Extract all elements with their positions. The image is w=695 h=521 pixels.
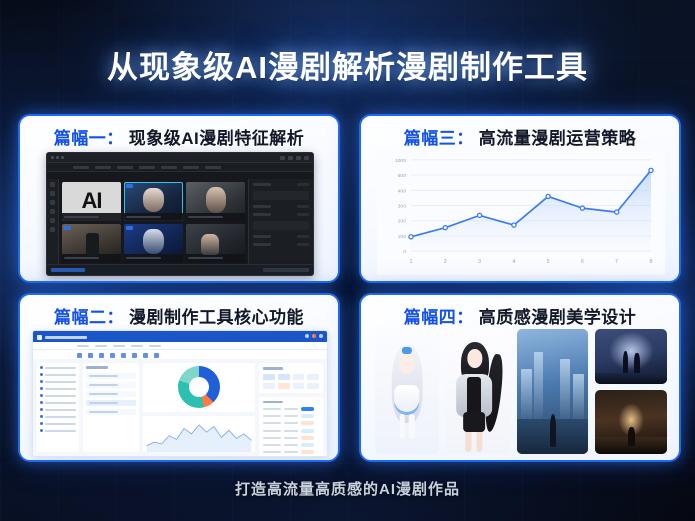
card-section-four[interactable]: 篇幅四： 高质感漫剧美学设计 xyxy=(359,293,681,462)
thumbnail-ai-label: AI xyxy=(82,190,102,212)
footer-tagline: 打造高流量高质感的AI漫剧作品 xyxy=(0,478,695,499)
sidebar-item[interactable] xyxy=(40,401,76,404)
media-thumbnail-grid: AI xyxy=(59,179,248,265)
line-chart-svg: 01002003004006001000 12345678 xyxy=(377,150,665,275)
page-title: 从现象级AI漫剧解析漫剧制作工具 xyxy=(0,42,695,87)
gallery-image-white-haired-chibi-character[interactable] xyxy=(375,329,439,454)
donut-chart xyxy=(178,366,220,408)
hair-bow-icon xyxy=(402,347,412,355)
property-row xyxy=(253,243,309,246)
thumbnail-caption xyxy=(186,254,245,262)
silhouette-figure xyxy=(628,427,634,446)
trend-chart-card xyxy=(143,416,255,452)
thumbnail-caption xyxy=(186,213,245,221)
shortcut-item[interactable] xyxy=(278,374,290,380)
light-glow xyxy=(609,332,653,371)
dashboard-body xyxy=(33,359,327,456)
svg-text:5: 5 xyxy=(547,259,550,265)
thumbnail-caption xyxy=(62,213,121,221)
shorts-shape xyxy=(463,412,485,432)
sidebar-item[interactable] xyxy=(40,429,76,432)
table-row xyxy=(263,443,319,447)
art-gallery xyxy=(375,329,667,454)
shortcut-item[interactable] xyxy=(263,374,275,380)
gallery-right-column xyxy=(595,329,667,454)
card-one-index: 篇幅一： xyxy=(54,124,124,149)
shortcut-item[interactable] xyxy=(278,383,290,389)
window-controls-icon xyxy=(280,156,309,160)
card-three-body: 01002003004006001000 12345678 xyxy=(361,150,679,277)
chart-data-point xyxy=(546,194,550,198)
sidebar-item[interactable] xyxy=(40,415,76,418)
building-shape xyxy=(560,359,571,422)
thumbnail-caption xyxy=(124,254,183,262)
shortcut-card-title xyxy=(263,367,283,370)
trend-chart-svg xyxy=(143,416,255,452)
shortcut-grid xyxy=(263,374,319,389)
inner-top-shape xyxy=(467,377,481,417)
chart-data-point xyxy=(478,213,482,217)
svg-text:8: 8 xyxy=(649,259,652,265)
editor-left-rail xyxy=(47,179,59,265)
list-panel-title xyxy=(86,366,108,369)
chart-data-point xyxy=(512,223,516,227)
shortcut-card xyxy=(259,363,323,393)
gallery-image-corridor-silhouette-scene[interactable] xyxy=(595,390,667,454)
chart-data-point xyxy=(649,168,653,172)
card-four-body xyxy=(361,329,679,456)
chart-data-point xyxy=(580,206,584,210)
card-four-title: 高质感漫剧美学设计 xyxy=(479,303,637,328)
gallery-image-blue-city-street-scene[interactable] xyxy=(517,329,589,454)
dashboard-screenshot xyxy=(32,330,328,457)
card-four-index: 篇幅四： xyxy=(404,303,474,328)
thumbnail-street[interactable] xyxy=(62,224,121,263)
editor-tabbar xyxy=(47,163,313,172)
dashboard-main-column xyxy=(143,363,255,452)
table-row xyxy=(263,421,319,425)
editor-statusbar xyxy=(47,264,313,275)
svg-text:100: 100 xyxy=(398,234,407,240)
thumbnail-caption xyxy=(62,254,121,262)
sidebar-item[interactable] xyxy=(40,380,76,383)
card-three-index: 篇幅三： xyxy=(404,124,474,149)
card-one-title: 现象级AI漫剧特征解析 xyxy=(129,124,305,149)
silhouette-figure xyxy=(550,414,556,447)
card-one-header: 篇幅一： 现象级AI漫剧特征解析 xyxy=(20,123,338,149)
list-item-active[interactable] xyxy=(86,400,136,406)
svg-text:200: 200 xyxy=(398,219,407,225)
shortcut-item[interactable] xyxy=(307,374,319,380)
shortcut-item[interactable] xyxy=(263,383,275,389)
card-one-body: AI xyxy=(20,150,338,277)
legs-shape xyxy=(399,414,416,439)
silhouette-figure xyxy=(623,351,629,374)
sidebar-item[interactable] xyxy=(40,408,76,411)
card-section-three[interactable]: 篇幅三： 高流量漫剧运营策略 010020030040060 xyxy=(359,114,681,283)
card-three-header: 篇幅三： 高流量漫剧运营策略 xyxy=(361,123,679,149)
dashboard-header xyxy=(33,331,327,342)
dashboard-user-area xyxy=(305,334,323,338)
list-item[interactable] xyxy=(86,391,136,397)
legs-shape xyxy=(464,429,483,452)
sidebar-item[interactable] xyxy=(40,394,76,397)
card-two-body xyxy=(20,329,338,456)
dashboard-list-panel xyxy=(83,363,139,452)
property-row xyxy=(253,183,309,186)
donut-chart-card xyxy=(143,363,255,412)
editor-titlebar xyxy=(47,153,313,163)
table-row xyxy=(263,450,319,454)
table-row xyxy=(263,407,319,411)
sidebar-item[interactable] xyxy=(40,366,76,369)
chart-data-point xyxy=(443,226,447,230)
table-row xyxy=(263,429,319,433)
sidebar-item[interactable] xyxy=(40,387,76,390)
property-row xyxy=(253,205,309,208)
building-shape xyxy=(573,374,584,422)
shortcut-item[interactable] xyxy=(293,374,305,380)
face-shape xyxy=(399,353,416,374)
dress-shape xyxy=(394,385,420,415)
sidebar-item[interactable] xyxy=(40,422,76,425)
slide-canvas: 从现象级AI漫剧解析漫剧制作工具 篇幅一： 现象级AI漫剧特征解析 xyxy=(0,0,695,521)
thumbnail-badge xyxy=(64,226,71,230)
svg-text:1000: 1000 xyxy=(395,158,406,164)
list-item[interactable] xyxy=(86,382,136,388)
card-two-title: 漫剧制作工具核心功能 xyxy=(129,303,304,328)
card-grid: 篇幅一： 现象级AI漫剧特征解析 xyxy=(18,114,677,458)
svg-text:2: 2 xyxy=(444,259,447,265)
thumbnail-neon-character[interactable] xyxy=(124,224,183,263)
video-editor-screenshot: AI xyxy=(46,152,314,276)
property-row xyxy=(253,235,309,238)
card-three-title: 高流量漫剧运营策略 xyxy=(479,124,637,149)
chart-data-point xyxy=(615,210,619,214)
card-two-index: 篇幅二： xyxy=(54,303,124,328)
svg-text:1: 1 xyxy=(409,259,412,265)
face-shape xyxy=(467,349,482,368)
shortcut-item[interactable] xyxy=(293,383,305,389)
building-shape xyxy=(534,352,543,422)
records-table-card xyxy=(259,397,323,458)
table-row xyxy=(263,436,319,440)
card-four-header: 篇幅四： 高质感漫剧美学设计 xyxy=(361,302,679,328)
gallery-image-black-ponytail-character[interactable] xyxy=(446,329,510,454)
thumbnail-car-scene[interactable] xyxy=(186,224,245,263)
card-section-two[interactable]: 篇幅二： 漫剧制作工具核心功能 xyxy=(18,293,340,462)
card-section-one[interactable]: 篇幅一： 现象级AI漫剧特征解析 xyxy=(18,114,340,283)
editor-properties-panel xyxy=(248,179,313,265)
property-block xyxy=(253,191,309,200)
svg-text:4: 4 xyxy=(512,259,515,265)
sidebar-item[interactable] xyxy=(40,373,76,376)
thumbnail-ai[interactable]: AI xyxy=(62,182,121,221)
editor-main: AI xyxy=(47,179,313,265)
property-block xyxy=(253,221,309,230)
thumbnail-portrait[interactable] xyxy=(186,182,245,221)
gallery-image-two-silhouettes-bridge-scene[interactable] xyxy=(595,329,667,384)
thumbnail-caption xyxy=(124,213,183,221)
card-two-header: 篇幅二： 漫剧制作工具核心功能 xyxy=(20,302,338,328)
shortcut-item[interactable] xyxy=(307,383,319,389)
svg-text:0: 0 xyxy=(403,249,406,255)
svg-text:3: 3 xyxy=(478,259,481,265)
dashboard-right-column xyxy=(259,363,323,452)
svg-text:6: 6 xyxy=(581,259,584,265)
svg-text:600: 600 xyxy=(398,173,407,179)
window-dots-icon xyxy=(51,156,64,159)
chart-data-point xyxy=(409,235,413,239)
list-item[interactable] xyxy=(86,409,136,415)
svg-text:7: 7 xyxy=(615,259,618,265)
bridge-floor xyxy=(595,373,667,384)
property-row xyxy=(253,213,309,216)
thumbnail-character-selected[interactable] xyxy=(124,182,183,221)
thumbnail-badge xyxy=(126,184,133,188)
thumbnail-badge xyxy=(126,226,133,230)
dashboard-sidebar xyxy=(37,363,79,452)
svg-text:300: 300 xyxy=(398,204,407,210)
traffic-line-chart: 01002003004006001000 12345678 xyxy=(377,150,665,275)
building-shape xyxy=(521,369,532,422)
dashboard-menubar xyxy=(33,342,327,350)
silhouette-figure xyxy=(634,353,640,374)
svg-text:400: 400 xyxy=(398,188,407,194)
list-item[interactable] xyxy=(86,373,136,379)
table-row xyxy=(263,414,319,418)
